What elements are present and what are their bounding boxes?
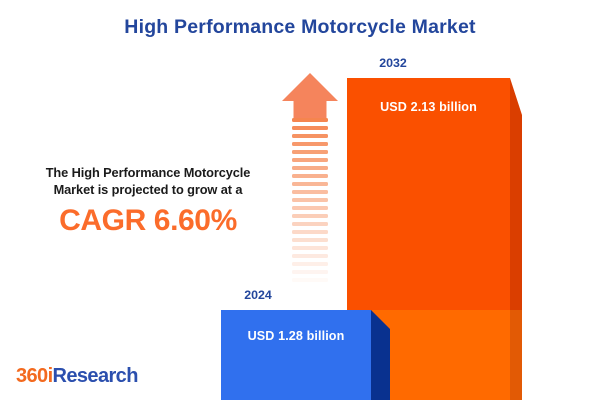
arrow-shaft-segment [292,134,328,138]
arrow-shaft-segment [292,150,328,154]
bar-2024-year-label: 2024 [219,288,297,302]
arrow-shaft-segment [292,254,328,258]
bar-2024-side-face [371,310,390,400]
arrow-shaft-segment [292,278,328,282]
arrow-shaft-segment [292,166,328,170]
logo-number: 360 [16,365,48,387]
infographic-canvas: High Performance Motorcycle Market The H… [0,0,600,400]
arrow-shaft-segment [292,206,328,210]
bar-2032-lower-side-face [510,310,522,400]
arrow-shaft-segment [292,230,328,234]
growth-arrow-up-icon [281,72,339,294]
arrow-shaft-segment [292,222,328,226]
arrow-shaft-segment [292,118,328,122]
arrow-shaft-segment [292,286,328,290]
arrow-shaft-segment [292,142,328,146]
arrow-shaft-segment [292,214,328,218]
cagr-statement-block: The High Performance Motorcycle Market i… [16,164,280,237]
arrow-shaft-segment [292,190,328,194]
arrow-shaft-segment [292,238,328,242]
logo-word: Research [53,365,138,387]
arrow-shaft [292,118,328,294]
bar-2024: 2024 USD 1.28 billion [221,310,390,400]
arrow-shaft-segment [292,126,328,130]
arrow-shaft-segment [292,262,328,266]
cagr-value: CAGR 6.60% [16,205,280,237]
page-title: High Performance Motorcycle Market [0,16,600,39]
bar-2024-value-label: USD 1.28 billion [221,329,371,343]
arrow-shaft-segment [292,246,328,250]
arrow-shaft-segment [292,158,328,162]
arrow-shaft-segment [292,182,328,186]
arrow-shaft-segment [292,198,328,202]
bar-2032-value-label: USD 2.13 billion [347,100,510,114]
arrow-shaft-segment [292,174,328,178]
brand-logo[interactable]: 360iResearch [16,365,138,388]
statement-line-1: The High Performance Motorcycle [16,164,280,181]
bar-2024-front-face [221,310,371,400]
arrow-shaft-segment [292,270,328,274]
bar-2032-year-label: 2032 [347,56,439,70]
arrow-head-icon [281,72,339,120]
statement-line-2: Market is projected to grow at a [16,181,280,198]
